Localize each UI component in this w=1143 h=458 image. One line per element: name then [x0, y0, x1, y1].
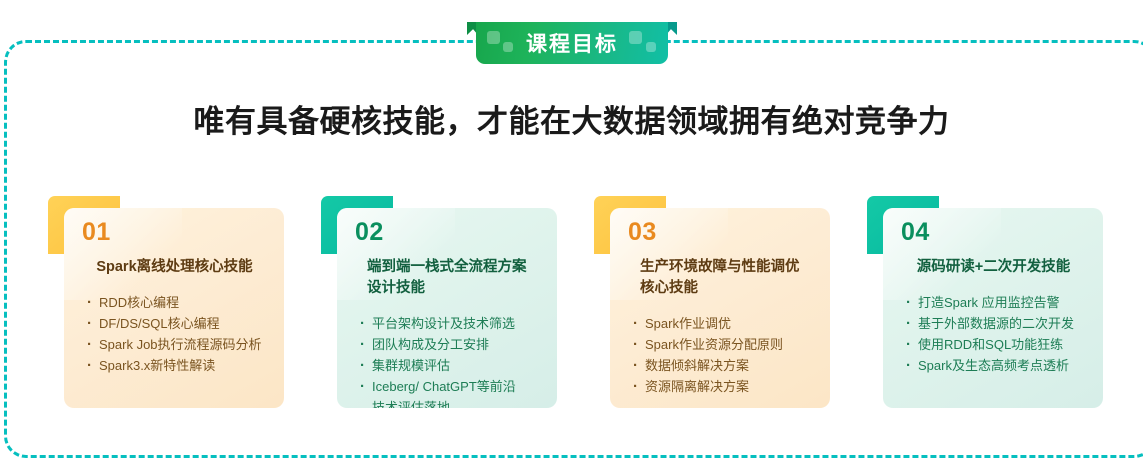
card-number: 03	[628, 220, 815, 245]
card-bullet-item: 打造Spark 应用监控告警	[905, 292, 1088, 313]
skill-card-04: 04源码研读+二次开发技能打造Spark 应用监控告警基于外部数据源的二次开发使…	[867, 196, 1103, 408]
card-title: 生产环境故障与性能调优核心技能	[640, 257, 815, 299]
card-body: 03生产环境故障与性能调优核心技能Spark作业调优Spark作业资源分配原则数…	[610, 208, 830, 408]
card-bullet-item: RDD核心编程	[86, 292, 269, 313]
card-bullet-item: 数据倾斜解决方案	[632, 355, 815, 376]
skill-card-03: 03生产环境故障与性能调优核心技能Spark作业调优Spark作业资源分配原则数…	[594, 196, 830, 408]
card-bullet-item: 使用RDD和SQL功能狂练	[905, 334, 1088, 355]
card-bullet-item: 资源隔离解决方案	[632, 376, 815, 397]
card-bullet-item: Iceberg/ ChatGPT等前沿技术评估落地	[359, 376, 542, 408]
card-title: 源码研读+二次开发技能	[899, 257, 1088, 278]
card-title: 端到端一栈式全流程方案设计技能	[367, 257, 542, 299]
card-bullet-item: 平台架构设计及技术筛选	[359, 313, 542, 334]
card-bullet-item: Spark作业资源分配原则	[632, 334, 815, 355]
card-body: 02端到端一栈式全流程方案设计技能平台架构设计及技术筛选团队构成及分工安排集群规…	[337, 208, 557, 408]
card-bullet-item: 团队构成及分工安排	[359, 334, 542, 355]
card-bullet-item: Spark3.x新特性解读	[86, 355, 269, 376]
page-headline: 唯有具备硬核技能，才能在大数据领域拥有绝对竞争力	[0, 96, 1143, 141]
card-bullet-item: Spark作业调优	[632, 313, 815, 334]
card-bullet-list: 打造Spark 应用监控告警基于外部数据源的二次开发使用RDD和SQL功能狂练S…	[899, 292, 1088, 376]
card-number: 02	[355, 220, 542, 245]
card-number: 04	[901, 220, 1088, 245]
skill-card-list: 01Spark离线处理核心技能RDD核心编程DF/DS/SQL核心编程Spark…	[48, 196, 1103, 408]
card-number: 01	[82, 220, 269, 245]
card-bullet-item: 集群规模评估	[359, 355, 542, 376]
card-bullet-list: 平台架构设计及技术筛选团队构成及分工安排集群规模评估Iceberg/ ChatG…	[353, 313, 542, 408]
card-bullet-item: Spark及生态高频考点透析	[905, 355, 1088, 376]
card-bullet-item: 基于外部数据源的二次开发	[905, 313, 1088, 334]
card-bullet-item: DF/DS/SQL核心编程	[86, 313, 269, 334]
section-banner: 课程目标	[476, 22, 668, 64]
card-bullet-list: RDD核心编程DF/DS/SQL核心编程Spark Job执行流程源码分析Spa…	[80, 292, 269, 376]
skill-card-02: 02端到端一栈式全流程方案设计技能平台架构设计及技术筛选团队构成及分工安排集群规…	[321, 196, 557, 408]
skill-card-01: 01Spark离线处理核心技能RDD核心编程DF/DS/SQL核心编程Spark…	[48, 196, 284, 408]
card-body: 04源码研读+二次开发技能打造Spark 应用监控告警基于外部数据源的二次开发使…	[883, 208, 1103, 408]
section-banner-label: 课程目标	[476, 22, 668, 64]
card-title: Spark离线处理核心技能	[80, 257, 269, 278]
card-body: 01Spark离线处理核心技能RDD核心编程DF/DS/SQL核心编程Spark…	[64, 208, 284, 408]
card-bullet-item: Spark Job执行流程源码分析	[86, 334, 269, 355]
card-bullet-list: Spark作业调优Spark作业资源分配原则数据倾斜解决方案资源隔离解决方案	[626, 313, 815, 397]
